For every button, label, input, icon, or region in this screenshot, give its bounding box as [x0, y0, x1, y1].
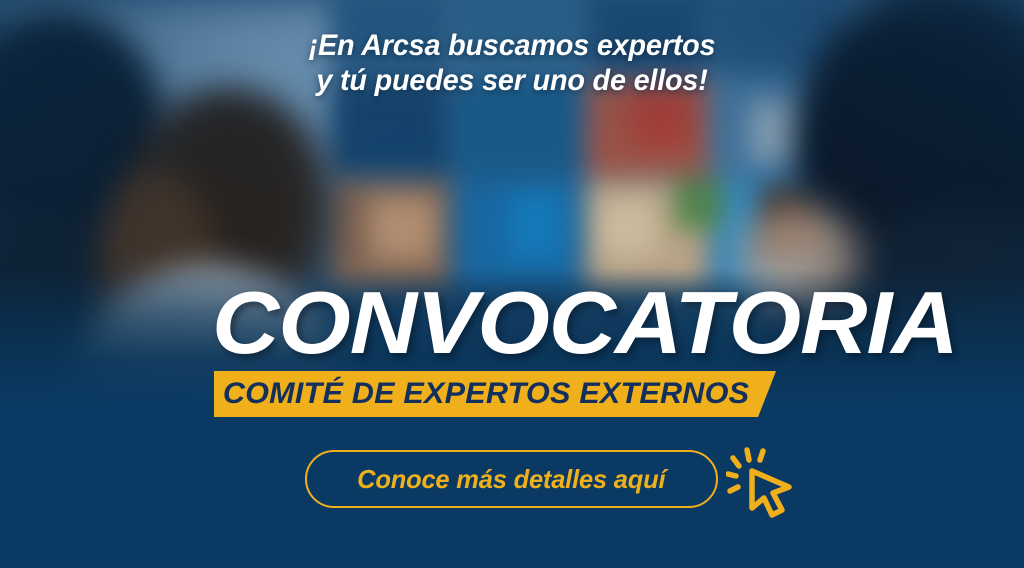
banner-headline: ¡En Arcsa buscamos expertos y tú puedes … — [20, 28, 1003, 98]
click-cursor-icon[interactable] — [726, 446, 804, 520]
page-title: CONVOCATORIA — [212, 279, 958, 367]
cta-button[interactable]: Conoce más detalles aquí — [305, 450, 718, 508]
cta-button-label: Conoce más detalles aquí — [357, 464, 665, 495]
banner-content: ¡En Arcsa buscamos expertos y tú puedes … — [0, 0, 1024, 568]
promotional-banner: ¡En Arcsa buscamos expertos y tú puedes … — [0, 0, 1024, 568]
subtitle-label: COMITÉ DE EXPERTOS EXTERNOS — [223, 379, 749, 409]
subtitle-yellow-bar: COMITÉ DE EXPERTOS EXTERNOS — [214, 371, 776, 417]
subtitle-banner: COMITÉ DE EXPERTOS EXTERNOS — [214, 371, 776, 417]
